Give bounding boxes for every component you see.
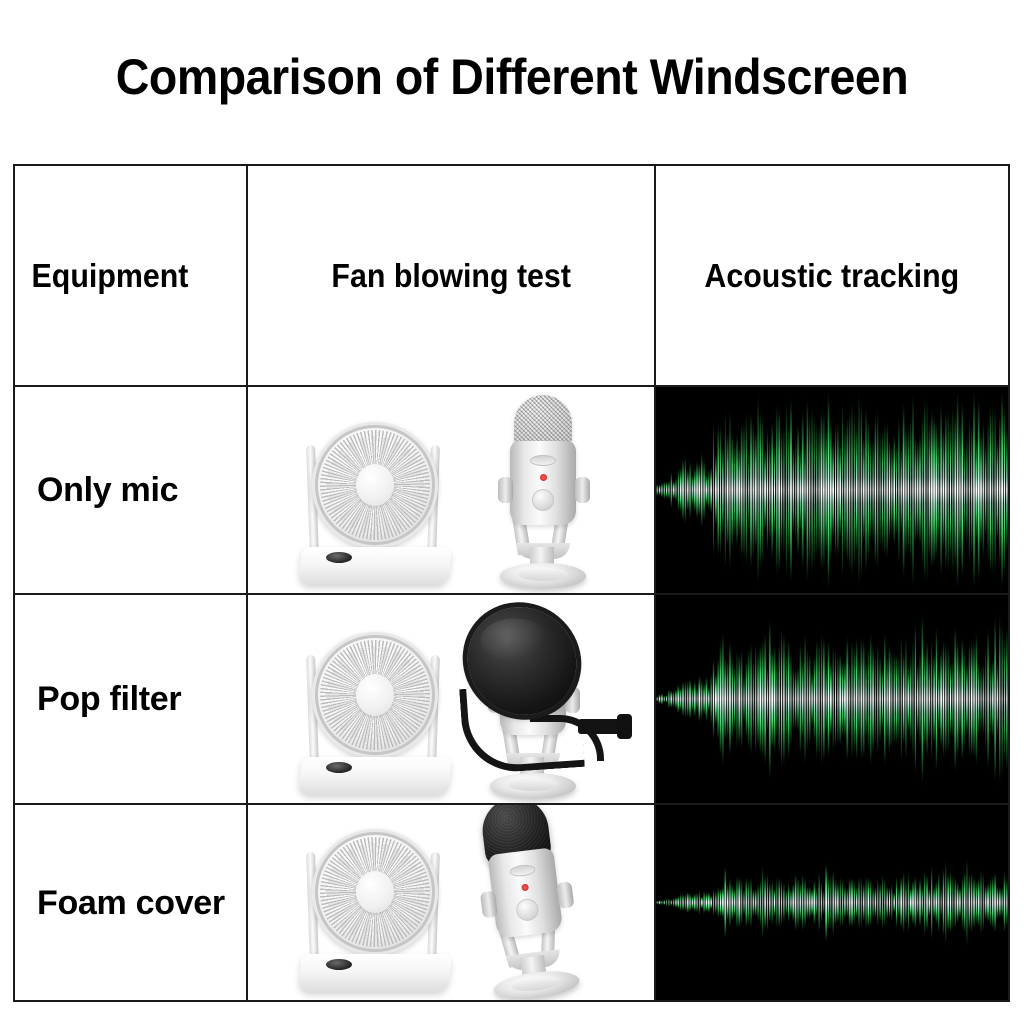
mic-grille-icon bbox=[514, 395, 572, 447]
equipment-cell-only-mic: Only mic bbox=[15, 387, 246, 593]
mic-logo-icon bbox=[509, 864, 536, 878]
desk-fan-icon bbox=[300, 630, 450, 795]
header-label-fan-test: Fan blowing test bbox=[264, 257, 638, 295]
pop-filter-icon bbox=[460, 607, 630, 775]
fan-base-icon bbox=[298, 954, 452, 992]
comparison-infographic: Comparison of Different Windscreen Equip… bbox=[0, 0, 1024, 1024]
condenser-microphone-icon bbox=[452, 805, 605, 1000]
mic-gain-dial-icon bbox=[515, 898, 540, 923]
mic-knob-left-icon bbox=[498, 477, 513, 503]
fan-test-cell-foam-cover bbox=[246, 805, 654, 1000]
table-header-row: Equipment Fan blowing test Acoustic trac… bbox=[15, 166, 1008, 385]
waveform-only-mic bbox=[656, 387, 1008, 593]
table-row: Pop filter bbox=[15, 593, 1008, 803]
desk-fan-icon bbox=[300, 420, 450, 585]
fan-dial-icon bbox=[326, 959, 352, 970]
acoustic-cell-only-mic bbox=[654, 387, 1008, 593]
fan-ring-icon bbox=[315, 832, 435, 952]
row-label-foam-cover: Foam cover bbox=[37, 883, 225, 923]
acoustic-cell-foam-cover bbox=[654, 805, 1008, 1000]
mic-base-icon bbox=[490, 773, 576, 799]
fan-dial-icon bbox=[326, 552, 352, 563]
table-header-cell-equipment: Equipment bbox=[15, 166, 246, 385]
mic-knob-right-icon bbox=[556, 881, 574, 909]
fan-ring-icon bbox=[315, 425, 435, 545]
condenser-microphone-icon bbox=[480, 393, 610, 589]
table-header-cell-fan-test: Fan blowing test bbox=[246, 166, 654, 385]
equipment-cell-pop-filter: Pop filter bbox=[15, 595, 246, 803]
page-title: Comparison of Different Windscreen bbox=[36, 48, 988, 106]
mic-led-icon bbox=[521, 884, 529, 892]
fan-base-icon bbox=[298, 757, 452, 795]
waveform-pop-filter bbox=[656, 595, 1008, 803]
mic-base-icon bbox=[500, 563, 586, 589]
pop-filter-clamp-icon bbox=[578, 719, 630, 734]
mic-gain-dial-icon bbox=[532, 489, 554, 511]
waveform-foam-cover bbox=[656, 805, 1008, 1000]
row-label-pop-filter: Pop filter bbox=[37, 679, 181, 719]
fan-base-icon bbox=[298, 547, 452, 585]
mic-knob-right-icon bbox=[575, 477, 590, 503]
photo-stage bbox=[248, 805, 654, 1000]
comparison-table: Equipment Fan blowing test Acoustic trac… bbox=[13, 164, 1010, 1002]
waveform-canvas bbox=[656, 595, 1008, 803]
row-label-only-mic: Only mic bbox=[37, 470, 178, 510]
mic-led-icon bbox=[540, 474, 547, 481]
waveform-canvas bbox=[656, 805, 1008, 1000]
mic-knob-left-icon bbox=[480, 891, 498, 919]
fan-test-cell-pop-filter bbox=[246, 595, 654, 803]
desk-fan-icon bbox=[300, 827, 450, 992]
table-header-cell-acoustic: Acoustic tracking bbox=[654, 166, 1008, 385]
photo-stage bbox=[248, 387, 654, 593]
table-row: Only mic bbox=[15, 385, 1008, 593]
mic-body-icon bbox=[487, 847, 563, 938]
acoustic-cell-pop-filter bbox=[654, 595, 1008, 803]
mic-body-icon bbox=[510, 441, 576, 525]
mic-base-icon bbox=[492, 967, 581, 1000]
fan-head-icon bbox=[312, 632, 438, 758]
fan-test-cell-only-mic bbox=[246, 387, 654, 593]
header-label-acoustic: Acoustic tracking bbox=[670, 257, 993, 295]
fan-ring-icon bbox=[315, 635, 435, 755]
waveform-canvas bbox=[656, 387, 1008, 593]
fan-head-icon bbox=[312, 422, 438, 548]
table-row: Foam cover bbox=[15, 803, 1008, 1000]
fan-dial-icon bbox=[326, 762, 352, 773]
photo-stage bbox=[248, 595, 654, 803]
header-label-equipment: Equipment bbox=[15, 257, 228, 295]
mic-logo-icon bbox=[530, 455, 556, 466]
fan-head-icon bbox=[312, 829, 438, 955]
equipment-cell-foam-cover: Foam cover bbox=[15, 805, 246, 1000]
